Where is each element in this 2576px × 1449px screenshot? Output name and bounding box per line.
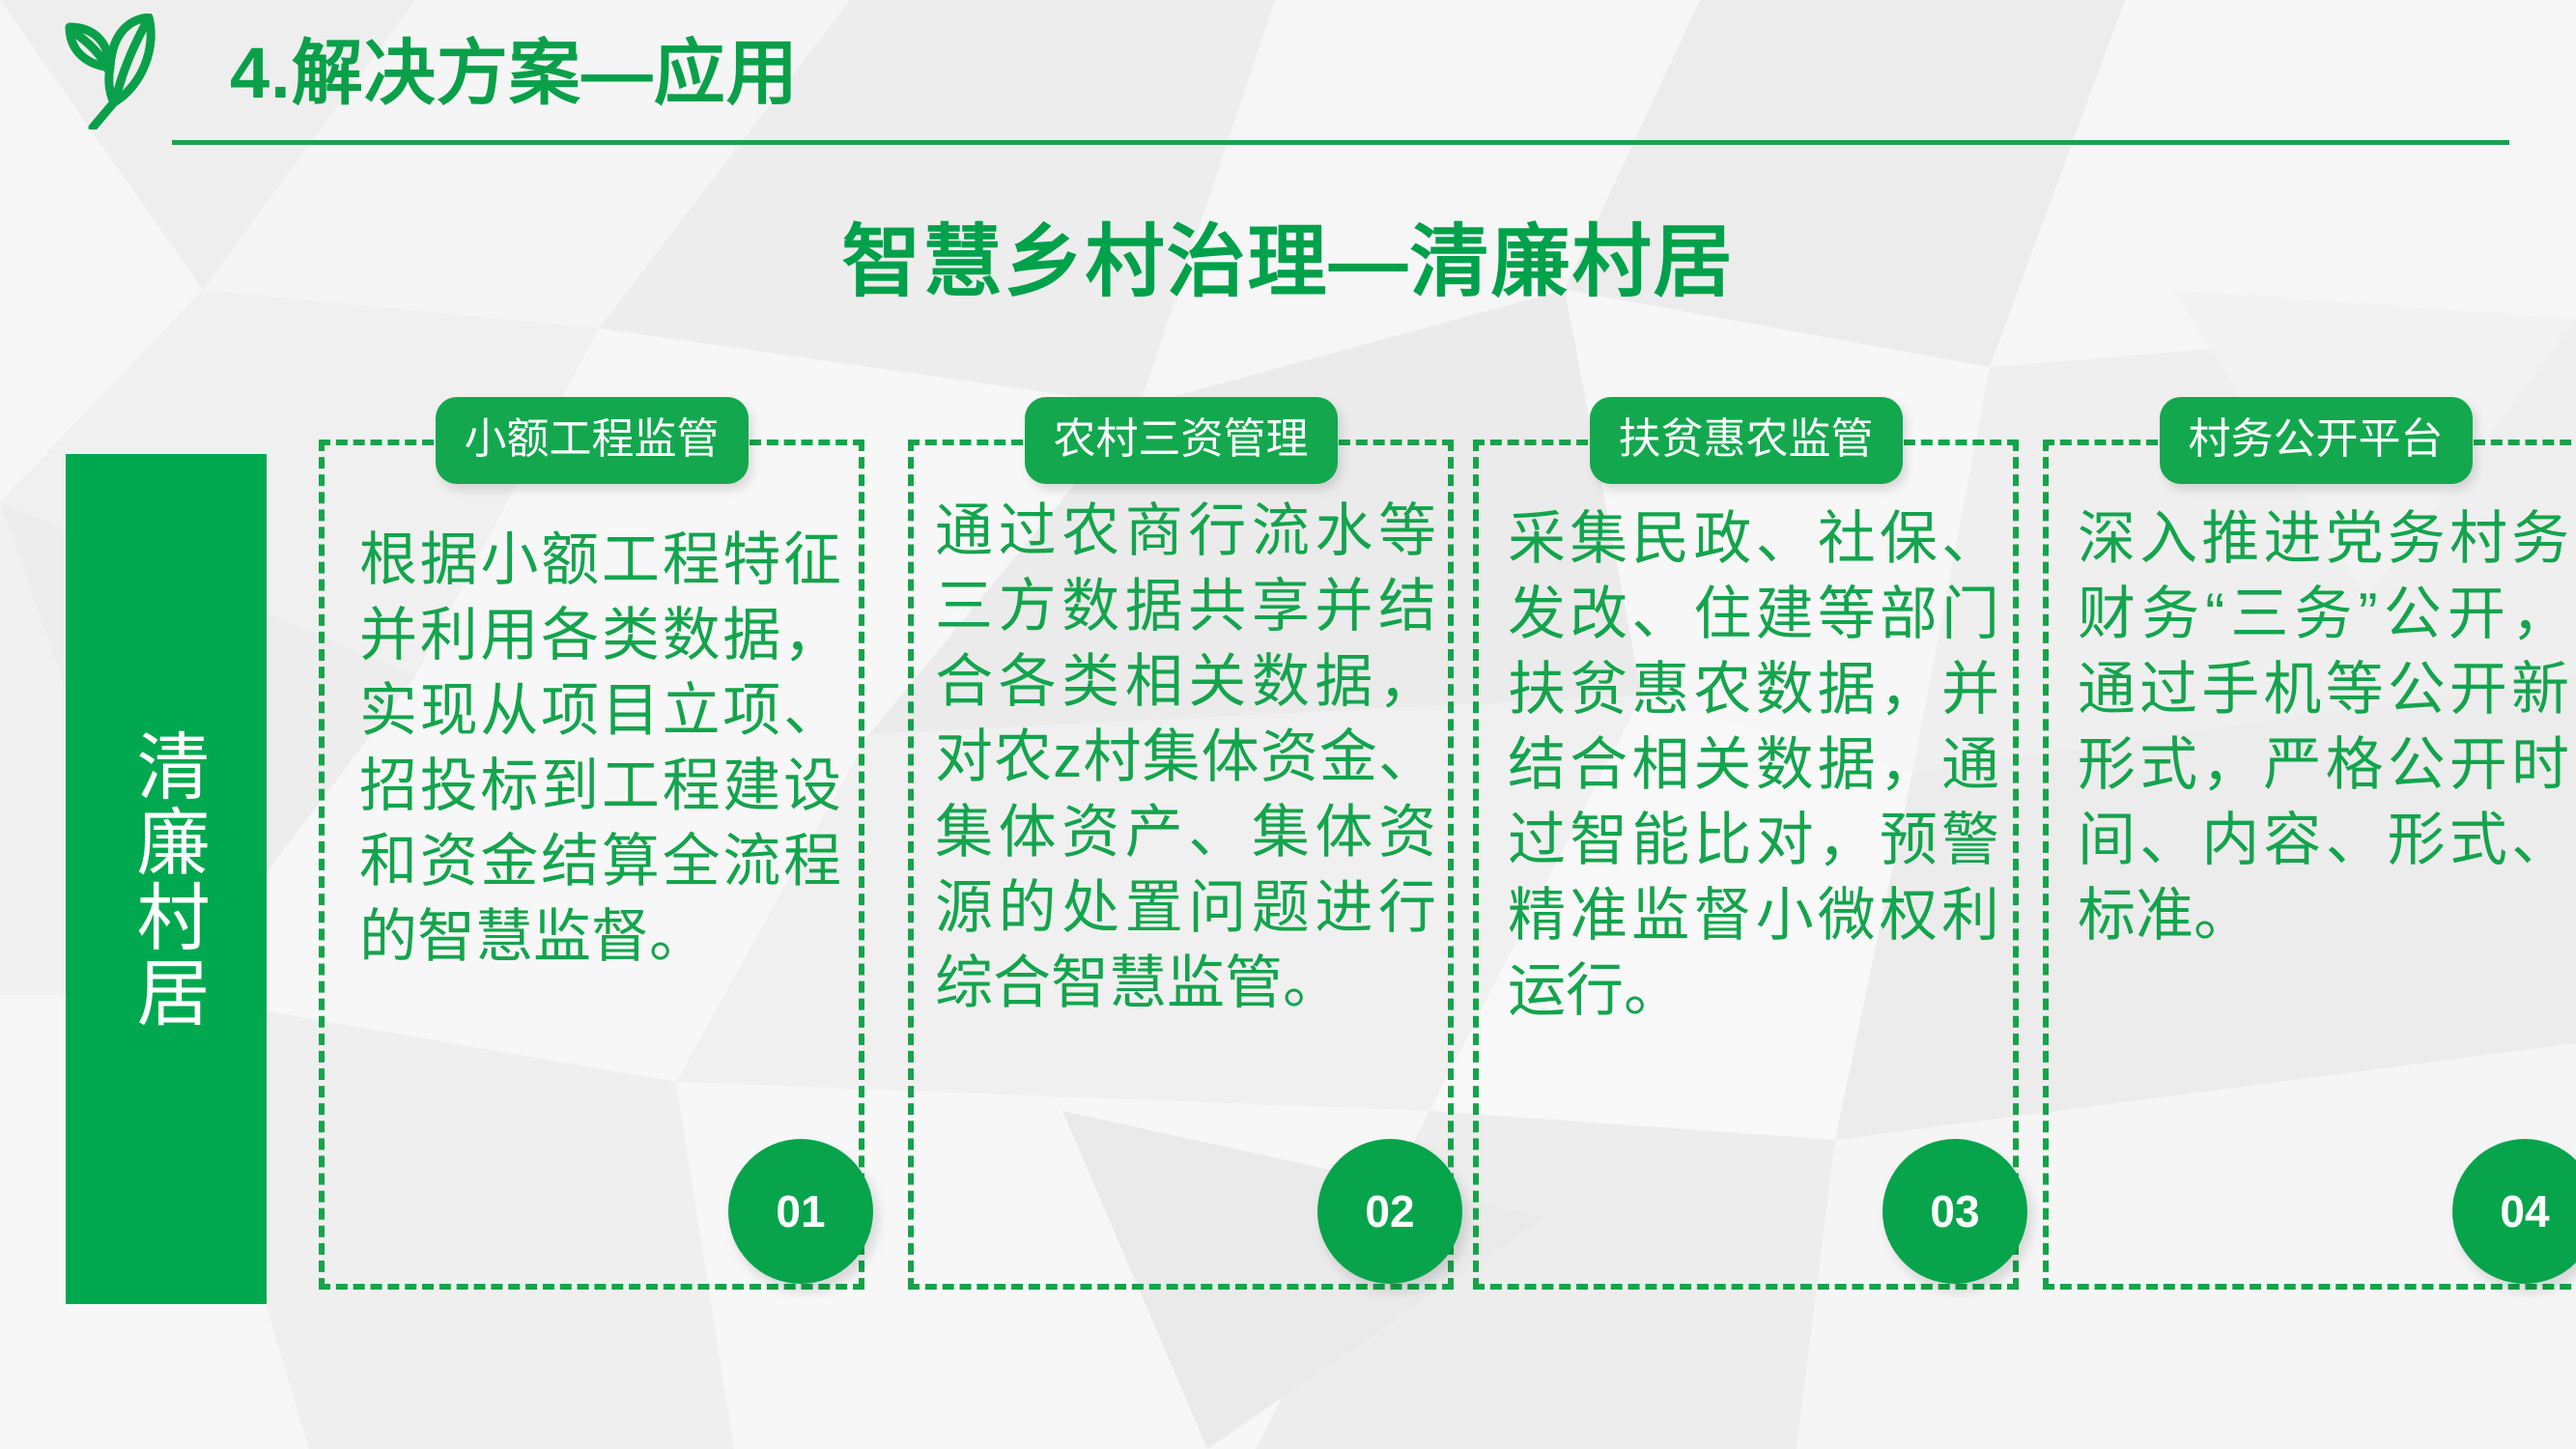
card-4-number: 04 (2452, 1139, 2576, 1284)
leaf-icon (60, 14, 164, 129)
card-3[interactable]: 扶贫惠农监管 采集民政、社保、发改、住建等部门扶贫惠农数据，并结合相关数据，通过… (1473, 440, 2019, 1290)
main-heading: 智慧乡村治理—清廉村居 (0, 197, 2576, 312)
card-4-badge: 村务公开平台 (2160, 397, 2473, 484)
card-2[interactable]: 农村三资管理 通过农商行流水等三方数据共享并结合各类相关数据，对农z村集体资金、… (908, 440, 1454, 1290)
card-3-number: 03 (1882, 1139, 2027, 1284)
side-block: 清廉村居 (66, 454, 267, 1304)
card-1-body: 根据小额工程特征并利用各类数据，实现从项目立项、招投标到工程建设和资金结算全流程… (359, 523, 841, 975)
card-1[interactable]: 小额工程监管 根据小额工程特征并利用各类数据，实现从项目立项、招投标到工程建设和… (319, 440, 864, 1290)
card-2-badge: 农村三资管理 (1025, 397, 1338, 484)
header-divider (172, 140, 2509, 145)
side-block-label: 清廉村居 (125, 728, 207, 1030)
card-3-badge: 扶贫惠农监管 (1590, 397, 1903, 484)
card-4[interactable]: 村务公开平台 深入推进党务村务财务“三务”公开，通过手机等公开新形式，严格公开时… (2043, 440, 2576, 1290)
card-1-badge: 小额工程监管 (436, 397, 749, 484)
page-header: 4.解决方案—应用 (0, 0, 2576, 155)
card-2-number: 02 (1317, 1139, 1462, 1284)
card-3-body: 采集民政、社保、发改、住建等部门扶贫惠农数据，并结合相关数据，通过智能比对，预警… (1508, 501, 1999, 1029)
card-2-body: 通过农商行流水等三方数据共享并结合各类相关数据，对农z村集体资金、集体资产、集体… (935, 494, 1436, 1021)
card-1-number: 01 (728, 1139, 873, 1284)
card-4-body: 深入推进党务村务财务“三务”公开，通过手机等公开新形式，严格公开时间、内容、形式… (2078, 501, 2569, 953)
page-title: 4.解决方案—应用 (230, 15, 799, 119)
